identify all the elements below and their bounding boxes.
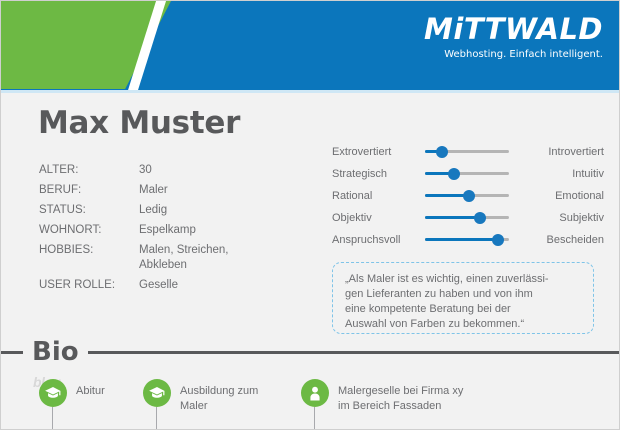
trait-track-fill [425, 238, 498, 241]
trait-left-label: Extrovertiert [332, 146, 416, 158]
bio-section-heading: Bio [1, 337, 620, 367]
trait-slider-row[interactable]: ObjektivSubjektiv [332, 207, 604, 229]
trait-right-label: Emotional [518, 190, 604, 202]
attribute-label: ALTER: [39, 163, 139, 178]
attribute-label: HOBBIES: [39, 243, 139, 258]
bio-rule-left [1, 351, 23, 354]
trait-slider-row[interactable]: AnspruchsvollBescheiden [332, 229, 604, 251]
trait-right-label: Intuitiv [518, 168, 604, 180]
trait-slider-row[interactable]: RationalEmotional [332, 185, 604, 207]
trait-right-label: Subjektiv [518, 212, 604, 224]
timeline-stem [52, 407, 53, 430]
attribute-row: WOHNORT:Espelkamp [39, 223, 299, 238]
bio-title: Bio [23, 339, 88, 365]
attribute-label: WOHNORT: [39, 223, 139, 238]
attribute-list: ALTER:30BERUF:MalerSTATUS:LedigWOHNORT:E… [39, 163, 299, 298]
attribute-value-line: Abkleben [139, 258, 229, 273]
attribute-row: BERUF:Maler [39, 183, 299, 198]
trait-right-label: Bescheiden [518, 234, 604, 246]
trait-slider-knob[interactable] [448, 168, 460, 180]
trait-slider-track[interactable] [425, 167, 509, 181]
trait-slider-knob[interactable] [463, 190, 475, 202]
quote-text: „Als Maler ist es wichtig, einen zuverlä… [345, 272, 581, 332]
trait-left-label: Strategisch [332, 168, 416, 180]
graduation-cap-icon [39, 379, 67, 407]
attribute-row: STATUS:Ledig [39, 203, 299, 218]
trait-slider-track[interactable] [425, 211, 509, 225]
trait-slider-track[interactable] [425, 233, 509, 247]
page-title: Max Muster [38, 105, 240, 141]
timeline-item[interactable]: Abitur [39, 379, 105, 407]
attribute-value: Espelkamp [139, 223, 196, 238]
attribute-value: Malen, Streichen,Abkleben [139, 243, 229, 273]
attribute-label: BERUF: [39, 183, 139, 198]
attribute-label: USER ROLLE: [39, 278, 139, 293]
profile-card: MiTTWALD Webhosting. Einfach intelligent… [0, 0, 620, 430]
attribute-row: USER ROLLE:Geselle [39, 278, 299, 293]
trait-slider-row[interactable]: StrategischIntuitiv [332, 163, 604, 185]
attribute-value: Ledig [139, 203, 167, 218]
timeline-item[interactable]: Malergeselle bei Firma xy im Bereich Fas… [301, 379, 463, 414]
attribute-row: ALTER:30 [39, 163, 299, 178]
trait-right-label: Introvertiert [518, 146, 604, 158]
trait-left-label: Anspruchsvoll [332, 234, 416, 246]
brand-logo: MiTTWALD Webhosting. Einfach intelligent… [424, 15, 603, 60]
quote-box: „Als Maler ist es wichtig, einen zuverlä… [332, 262, 594, 334]
trait-slider-list: ExtrovertiertIntrovertiertStrategischInt… [332, 141, 604, 251]
trait-left-label: Objektiv [332, 212, 416, 224]
bio-rule-right [88, 351, 620, 354]
bio-timeline: AbiturAusbildung zum MalerMalergeselle b… [1, 379, 620, 430]
attribute-row: HOBBIES:Malen, Streichen,Abkleben [39, 243, 299, 273]
user-icon [301, 379, 329, 407]
logo-tagline: Webhosting. Einfach intelligent. [424, 50, 603, 60]
trait-slider-track[interactable] [425, 189, 509, 203]
graduation-cap-icon [143, 379, 171, 407]
trait-track-fill [425, 216, 480, 219]
timeline-item-label: Abitur [76, 379, 105, 399]
timeline-item[interactable]: Ausbildung zum Maler [143, 379, 258, 414]
attribute-value: Geselle [139, 278, 178, 293]
trait-slider-track[interactable] [425, 145, 509, 159]
trait-slider-knob[interactable] [436, 146, 448, 158]
trait-left-label: Rational [332, 190, 416, 202]
timeline-stem [156, 407, 157, 430]
timeline-item-label: Ausbildung zum Maler [180, 379, 258, 414]
header-underline [1, 90, 620, 93]
timeline-item-label: Malergeselle bei Firma xy im Bereich Fas… [338, 379, 463, 414]
trait-slider-knob[interactable] [492, 234, 504, 246]
attribute-value: 30 [139, 163, 152, 178]
attribute-label: STATUS: [39, 203, 139, 218]
trait-slider-row[interactable]: ExtrovertiertIntrovertiert [332, 141, 604, 163]
page-header: MiTTWALD Webhosting. Einfach intelligent… [1, 1, 620, 90]
logo-wordmark: MiTTWALD [424, 15, 603, 44]
timeline-stem [314, 407, 315, 430]
trait-slider-knob[interactable] [474, 212, 486, 224]
attribute-value: Maler [139, 183, 168, 198]
